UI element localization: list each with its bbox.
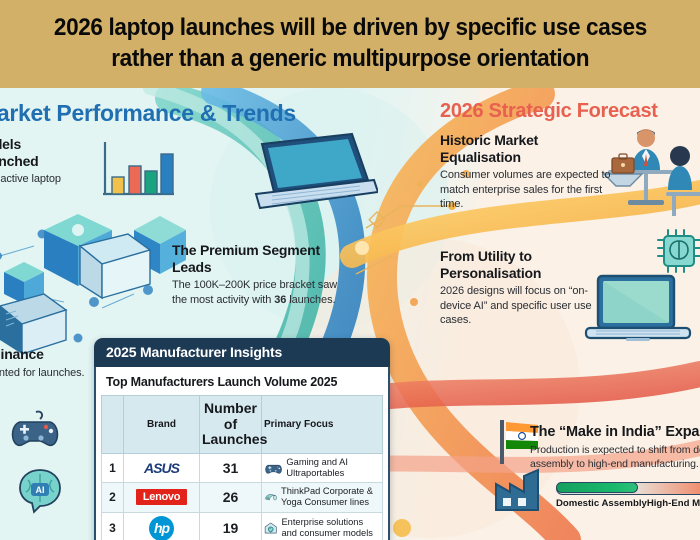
left-panel-title: Market Performance & Trends <box>0 100 296 127</box>
svg-text:AI: AI <box>36 485 45 495</box>
slider-track[interactable] <box>556 482 700 495</box>
asus-logo: ASUS <box>144 460 179 476</box>
models-launched-heading: Models Launched <box>0 136 124 169</box>
focus-text: Gaming and AI Ultraportables <box>286 457 380 479</box>
gamepad-icon <box>8 408 60 452</box>
cell-primary-focus: Gaming and AI Ultraportables <box>262 454 383 483</box>
shield-home-icon <box>264 517 277 539</box>
cell-rank: 1 <box>102 454 124 483</box>
infographic-canvas: AI <box>0 0 700 540</box>
personalisation-body: 2026 designs will focus on “on-device AI… <box>440 284 598 328</box>
laptop-icon <box>584 272 692 348</box>
yoga-laptop-icon <box>264 487 277 507</box>
make-in-india-heading: The “Make in India” Expansion <box>530 424 700 441</box>
table-row[interactable]: 2 Lenovo 26 T <box>102 483 383 512</box>
laptop-illustration-top <box>228 130 378 230</box>
premium-segment-heading: The Premium Segment Leads <box>172 242 338 275</box>
models-launched-body: most active laptop <box>0 172 124 187</box>
header-title-line1: 2026 laptop launches will be driven by s… <box>54 13 647 44</box>
desk-worker-illustration <box>666 140 700 220</box>
table-inner: Top Manufacturers Launch Volume 2025 Bra… <box>94 367 390 540</box>
lenovo-logo: Lenovo <box>136 489 187 505</box>
slider-labels: Domestic Assembly High-End Manufacturing <box>556 498 700 509</box>
focus-text: Enterprise solutions and consumer models <box>281 517 380 539</box>
ai-chip-icon <box>656 228 700 274</box>
models-launched-block: Models Launched most active laptop <box>0 136 124 187</box>
make-in-india-block: The “Make in India” Expansion Production… <box>530 424 700 472</box>
cell-launches: 31 <box>200 454 262 483</box>
manufacturing-shift-slider[interactable]: Domestic Assembly High-End Manufacturing <box>556 482 700 509</box>
th-brand: Brand <box>124 396 200 454</box>
focus-text: ThinkPad Corporate & Yoga Consumer lines <box>281 486 380 508</box>
th-rank <box>102 396 124 454</box>
historic-equalisation-heading: Historic Market Equalisation <box>440 132 618 165</box>
table-row[interactable]: 1 ASUS 31 <box>102 454 383 483</box>
cell-launches: 19 <box>200 512 262 540</box>
manufacturers-table: Brand Number of Launches Primary Focus 1… <box>101 395 383 540</box>
table-row[interactable]: 3 hp 19 Enter <box>102 512 383 540</box>
factory-icon <box>494 466 544 512</box>
cell-primary-focus: ThinkPad Corporate & Yoga Consumer lines <box>262 483 383 512</box>
cell-rank: 2 <box>102 483 124 512</box>
cell-launches: 26 <box>200 483 262 512</box>
historic-equalisation-body: Consumer volumes are expected to match e… <box>440 168 618 212</box>
brain-ai-icon: AI <box>14 466 66 516</box>
header-title-line2: rather than a generic multipurpose orien… <box>111 44 589 75</box>
slider-label-right: High-End Manufacturing <box>647 498 700 509</box>
table-banner-title: 2025 Manufacturer Insights <box>94 338 390 367</box>
personalisation-heading: From Utility to Personalisation <box>440 248 598 281</box>
table-subtitle: Top Manufacturers Launch Volume 2025 <box>101 372 383 395</box>
gamepad-icon <box>264 458 282 478</box>
manufacturer-insights-card: 2025 Manufacturer Insights Top Manufactu… <box>94 338 390 540</box>
th-launches: Number of Launches <box>200 396 262 454</box>
cell-brand: Lenovo <box>124 483 200 512</box>
cell-rank: 3 <box>102 512 124 540</box>
cell-brand: hp <box>124 512 200 540</box>
historic-equalisation-block: Historic Market Equalisation Consumer vo… <box>440 132 618 212</box>
right-panel-title: 2026 Strategic Forecast <box>440 100 658 123</box>
make-in-india-body: Production is expected to shift from dom… <box>530 444 700 472</box>
hp-logo: hp <box>149 516 174 540</box>
cell-brand: ASUS <box>124 454 200 483</box>
premium-segment-block: The Premium Segment Leads The 100K–200K … <box>172 242 338 307</box>
cell-primary-focus: Enterprise solutions and consumer models <box>262 512 383 540</box>
personalisation-block: From Utility to Personalisation 2026 des… <box>440 248 598 328</box>
slider-label-left: Domestic Assembly <box>556 498 647 509</box>
slider-fill <box>556 482 639 493</box>
th-primary-focus: Primary Focus <box>262 396 383 454</box>
header-banner: 2026 laptop launches will be driven by s… <box>0 0 700 88</box>
table-header-row: Brand Number of Launches Primary Focus <box>102 396 383 454</box>
premium-segment-body: The 100K–200K price bracket saw the most… <box>172 278 338 307</box>
